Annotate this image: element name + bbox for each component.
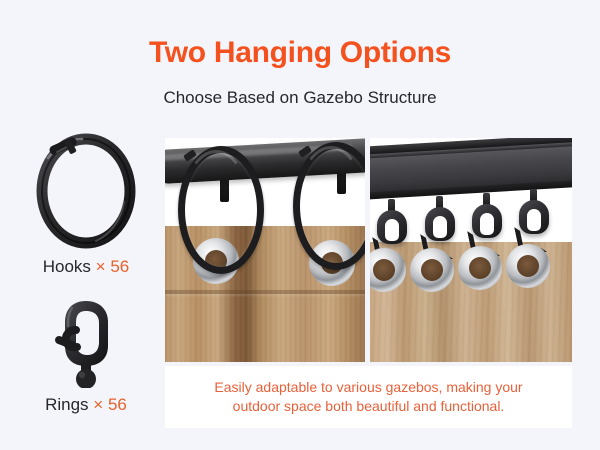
part-count: 56 (110, 257, 129, 276)
caption-text: Easily adaptable to various gazebos, mak… (176, 378, 561, 416)
list-item-part-0: Hooks × 56 (10, 128, 162, 278)
part-label-row: Rings × 56 (10, 394, 162, 416)
header: Two Hanging Options Choose Based on Gaze… (0, 0, 600, 122)
part-name: Hooks (43, 257, 91, 276)
list-item-part-1: Rings × 56 (10, 296, 162, 416)
parts-list: Hooks × 56 (10, 128, 162, 428)
part-label-row: Hooks × 56 (10, 256, 162, 278)
part-separator: × (96, 257, 106, 276)
part-name: Rings (45, 395, 88, 414)
hooks-on-track-photo (370, 138, 572, 362)
page-title: Two Hanging Options (0, 36, 600, 70)
snap-hook-icon (10, 296, 162, 388)
part-separator: × (93, 395, 103, 414)
rings-on-rod-photo (165, 138, 365, 362)
photo-gallery (165, 138, 572, 362)
page-subtitle: Choose Based on Gazebo Structure (0, 87, 600, 109)
curtain-ring-icon (10, 128, 162, 250)
caption-banner: Easily adaptable to various gazebos, mak… (165, 366, 572, 428)
part-count: 56 (108, 395, 127, 414)
